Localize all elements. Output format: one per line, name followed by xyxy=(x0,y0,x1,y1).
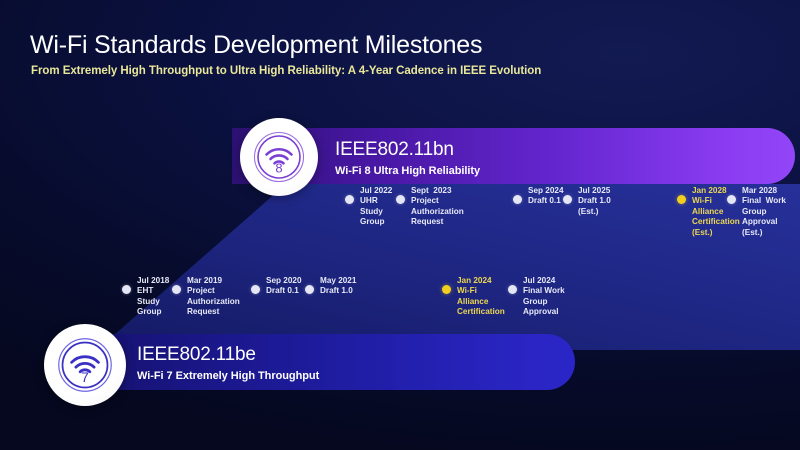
wifi7-bar-label: IEEE802.11be Wi-Fi 7 Extremely High Thro… xyxy=(137,345,319,382)
milestone-dot xyxy=(513,195,522,204)
milestone-label: Sept 2023Project Authorization Request xyxy=(411,186,464,228)
milestone-label: Jul 2022UHR Study Group xyxy=(360,186,392,228)
milestone-wifi7-4[interactable]: Jan 2024Wi-Fi Alliance Certification xyxy=(442,276,505,318)
milestone-label: Jul 2018EHT Study Group xyxy=(137,276,169,318)
page-subtitle: From Extremely High Throughput to Ultra … xyxy=(31,65,541,77)
milestone-dot xyxy=(396,195,405,204)
milestone-wifi7-1[interactable]: Mar 2019Project Authorization Request xyxy=(172,276,240,318)
page-title: Wi-Fi Standards Development Milestones xyxy=(30,31,482,60)
milestone-dot xyxy=(727,195,736,204)
milestone-wifi8-5[interactable]: Mar 2028Final Work Group Approval (Est.) xyxy=(727,186,786,238)
milestone-label: Mar 2028Final Work Group Approval (Est.) xyxy=(742,186,786,238)
wifi8-number: 8 xyxy=(275,161,282,176)
wifi7-number: 7 xyxy=(81,369,89,385)
slide-canvas: Wi-Fi Standards Development Milestones F… xyxy=(0,0,800,450)
milestone-wifi8-3[interactable]: Jul 2025Draft 1.0 (Est.) xyxy=(563,186,611,217)
wifi8-standard-name: IEEE802.11bn xyxy=(335,140,480,159)
milestone-label: Sep 2024Draft 0.1 xyxy=(528,186,564,207)
wifi-7-icon: 7 xyxy=(55,335,115,395)
wifi-7-badge[interactable]: 7 xyxy=(44,324,126,406)
milestone-label: Jul 2025Draft 1.0 (Est.) xyxy=(578,186,611,217)
milestone-label: Mar 2019Project Authorization Request xyxy=(187,276,240,318)
milestone-dot xyxy=(345,195,354,204)
milestone-label: Jan 2024Wi-Fi Alliance Certification xyxy=(457,276,505,318)
milestone-dot xyxy=(677,195,686,204)
wifi-8-badge[interactable]: 8 xyxy=(240,118,318,196)
milestone-wifi8-2[interactable]: Sep 2024Draft 0.1 xyxy=(513,186,564,207)
milestone-label: May 2021Draft 1.0 xyxy=(320,276,356,297)
wifi-8-icon: 8 xyxy=(251,129,307,185)
milestone-dot xyxy=(563,195,572,204)
milestone-wifi7-5[interactable]: Jul 2024Final Work Group Approval xyxy=(508,276,565,318)
milestone-label: Jul 2024Final Work Group Approval xyxy=(523,276,565,318)
wifi7-generation-name: Wi-Fi 7 Extremely High Throughput xyxy=(137,371,319,382)
milestone-wifi7-2[interactable]: Sep 2020Draft 0.1 xyxy=(251,276,302,297)
milestone-dot xyxy=(122,285,131,294)
milestone-dot xyxy=(305,285,314,294)
milestone-dot xyxy=(251,285,260,294)
wifi8-generation-name: Wi-Fi 8 Ultra High Reliability xyxy=(335,166,480,177)
milestone-label: Sep 2020Draft 0.1 xyxy=(266,276,302,297)
milestone-dot xyxy=(172,285,181,294)
milestone-wifi7-3[interactable]: May 2021Draft 1.0 xyxy=(305,276,356,297)
milestone-dot xyxy=(442,285,451,294)
milestone-wifi8-0[interactable]: Jul 2022UHR Study Group xyxy=(345,186,392,228)
milestone-dot xyxy=(508,285,517,294)
milestone-wifi8-1[interactable]: Sept 2023Project Authorization Request xyxy=(396,186,464,228)
wifi8-bar-label: IEEE802.11bn Wi-Fi 8 Ultra High Reliabil… xyxy=(335,140,480,177)
milestone-wifi7-0[interactable]: Jul 2018EHT Study Group xyxy=(122,276,169,318)
wifi7-standard-name: IEEE802.11be xyxy=(137,345,319,364)
